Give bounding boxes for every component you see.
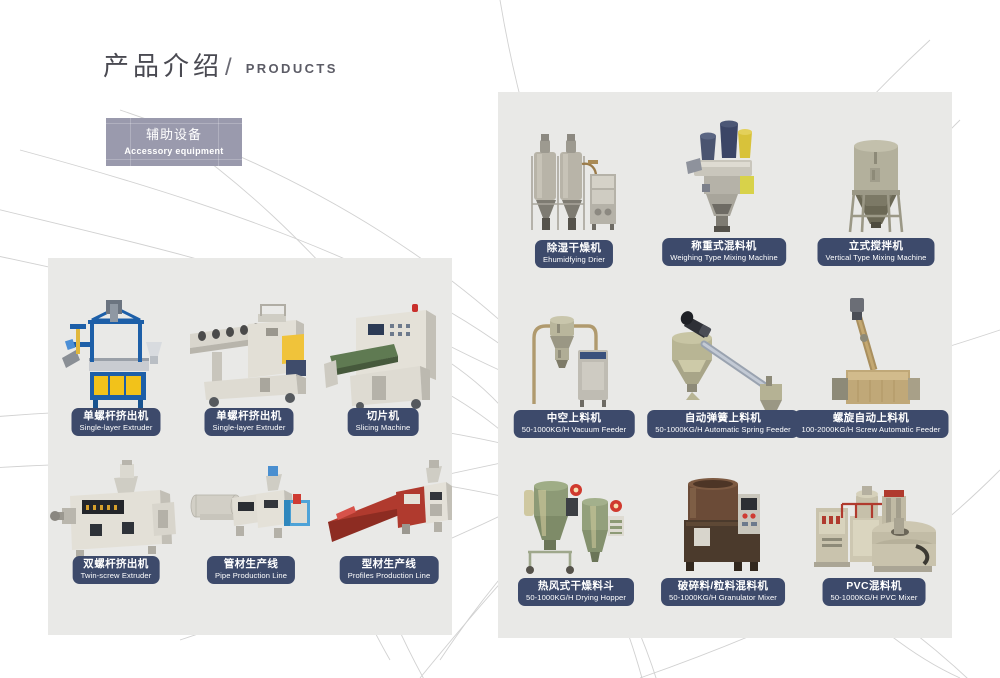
product-badge[interactable]: 管材生产线 Pipe Production Line — [207, 556, 295, 584]
drying-hopper-icon — [520, 468, 632, 576]
product-name-en: Profiles Production Line — [348, 572, 431, 581]
product-card[interactable]: 中空上料机 50-1000KG/H Vacuum Feeder — [524, 300, 624, 440]
pvc-mixer-icon — [812, 472, 936, 576]
product-card[interactable]: 螺旋自动上料机 100-2000KG/H Screw Automatic Fee… — [812, 296, 930, 440]
product-name-en: Twin-screw Extruder — [81, 572, 152, 581]
product-name-en: 100-2000KG/H Screw Automatic Feeder — [802, 426, 941, 435]
pipe-production-line-icon — [188, 460, 314, 560]
screw-feeder-icon — [812, 296, 930, 408]
product-card[interactable]: PVC混料机 50-1000KG/H PVC Mixer — [812, 472, 936, 608]
product-badge[interactable]: PVC混料机 50-1000KG/H PVC Mixer — [823, 578, 926, 606]
slicing-machine-icon — [324, 300, 442, 412]
vertical-mixing-machine-icon — [838, 128, 914, 240]
product-name-en: Pipe Production Line — [215, 572, 287, 581]
product-badge[interactable]: 型材生产线 Profiles Production Line — [340, 556, 439, 584]
product-name-en: Slicing Machine — [356, 424, 411, 433]
product-name-cn: 自动弹簧上料机 — [655, 413, 791, 425]
product-card[interactable]: 破碎料/粒料混料机 50-1000KG/H Granulator Mixer — [680, 472, 766, 608]
vacuum-feeder-icon — [524, 300, 624, 408]
product-name-cn: 双螺杆挤出机 — [81, 559, 152, 571]
product-badge[interactable]: 除湿干燥机 Ehumidfying Drier — [535, 240, 613, 268]
product-name-en: 50-1000KG/H Drying Hopper — [526, 594, 626, 603]
product-name-cn: 中空上料机 — [522, 413, 627, 425]
product-card[interactable]: 双螺杆挤出机 Twin-screw Extruder — [52, 460, 180, 590]
product-name-cn: 热风式干燥料斗 — [526, 581, 626, 593]
product-name-cn: 称重式混料机 — [670, 241, 778, 253]
page-title: 产品介绍 / PRODUCTS — [103, 46, 338, 83]
product-card[interactable]: 单螺杆挤出机 Single-layer Extruder — [62, 300, 170, 440]
product-name-cn: 立式搅拌机 — [825, 241, 926, 253]
product-card[interactable]: 单螺杆挤出机 Single-layer Extruder — [186, 300, 312, 440]
product-card[interactable]: 立式搅拌机 Vertical Type Mixing Machine — [838, 128, 914, 270]
product-card[interactable]: 自动弹簧上料机 50-1000KG/H Automatic Spring Fee… — [666, 300, 780, 440]
product-name-en: Ehumidfying Drier — [543, 256, 605, 265]
product-name-en: 50-1000KG/H PVC Mixer — [831, 594, 918, 603]
product-name-en: Single-layer Extruder — [212, 424, 285, 433]
product-card[interactable]: 称重式混料机 Weighing Type Mixing Machine — [686, 118, 762, 270]
dehumidifying-drier-icon — [526, 130, 622, 240]
product-badge[interactable]: 切片机 Slicing Machine — [348, 408, 419, 436]
page-title-cn: 产品介绍 — [103, 46, 223, 83]
product-card[interactable]: 热风式干燥料斗 50-1000KG/H Drying Hopper — [520, 468, 632, 608]
product-badge[interactable]: 热风式干燥料斗 50-1000KG/H Drying Hopper — [518, 578, 634, 606]
product-name-en: Vertical Type Mixing Machine — [825, 254, 926, 263]
category-name-en: Accessory equipment — [124, 145, 223, 157]
product-card[interactable]: 除湿干燥机 Ehumidfying Drier — [526, 130, 622, 270]
product-name-en: 50-1000KG/H Automatic Spring Feeder — [655, 426, 791, 435]
product-badge[interactable]: 自动弹簧上料机 50-1000KG/H Automatic Spring Fee… — [647, 410, 799, 438]
product-name-cn: 除湿干燥机 — [543, 243, 605, 255]
product-card[interactable]: 管材生产线 Pipe Production Line — [188, 460, 314, 590]
product-name-cn: 螺旋自动上料机 — [802, 413, 941, 425]
product-card[interactable]: 型材生产线 Profiles Production Line — [326, 460, 452, 590]
twin-screw-extruder-icon — [52, 460, 180, 560]
single-screw-extruder-blue-icon — [62, 300, 170, 412]
product-badge[interactable]: 单螺杆挤出机 Single-layer Extruder — [71, 408, 160, 436]
product-name-cn: 管材生产线 — [215, 559, 287, 571]
category-chip-accessory-equipment[interactable]: 辅助设备 Accessory equipment — [106, 118, 242, 166]
profiles-production-line-icon — [326, 460, 452, 560]
product-badge[interactable]: 螺旋自动上料机 100-2000KG/H Screw Automatic Fee… — [794, 410, 949, 438]
product-name-en: 50-1000KG/H Vacuum Feeder — [522, 426, 627, 435]
product-name-cn: 单螺杆挤出机 — [79, 411, 152, 423]
product-name-en: 50-1000KG/H Granulator Mixer — [669, 594, 777, 603]
product-badge[interactable]: 单螺杆挤出机 Single-layer Extruder — [204, 408, 293, 436]
page-title-separator: / — [225, 54, 232, 82]
category-name-cn: 辅助设备 — [146, 127, 202, 145]
product-badge[interactable]: 称重式混料机 Weighing Type Mixing Machine — [662, 238, 786, 266]
product-name-cn: 单螺杆挤出机 — [212, 411, 285, 423]
weighing-mixing-machine-icon — [686, 118, 762, 240]
spring-feeder-icon — [666, 300, 780, 408]
roller-conveyor-machine-icon — [186, 300, 312, 412]
product-name-en: Single-layer Extruder — [79, 424, 152, 433]
product-badge[interactable]: 中空上料机 50-1000KG/H Vacuum Feeder — [514, 410, 635, 438]
product-badge[interactable]: 破碎料/粒料混料机 50-1000KG/H Granulator Mixer — [661, 578, 785, 606]
product-name-cn: 切片机 — [356, 411, 411, 423]
product-badge[interactable]: 立式搅拌机 Vertical Type Mixing Machine — [817, 238, 934, 266]
product-name-cn: 破碎料/粒料混料机 — [669, 581, 777, 593]
product-card[interactable]: 切片机 Slicing Machine — [324, 300, 442, 440]
product-badge[interactable]: 双螺杆挤出机 Twin-screw Extruder — [73, 556, 160, 584]
page-title-en: PRODUCTS — [246, 61, 338, 76]
product-name-cn: 型材生产线 — [348, 559, 431, 571]
granulator-mixer-icon — [680, 472, 766, 576]
product-name-en: Weighing Type Mixing Machine — [670, 254, 778, 263]
product-name-cn: PVC混料机 — [831, 581, 918, 593]
